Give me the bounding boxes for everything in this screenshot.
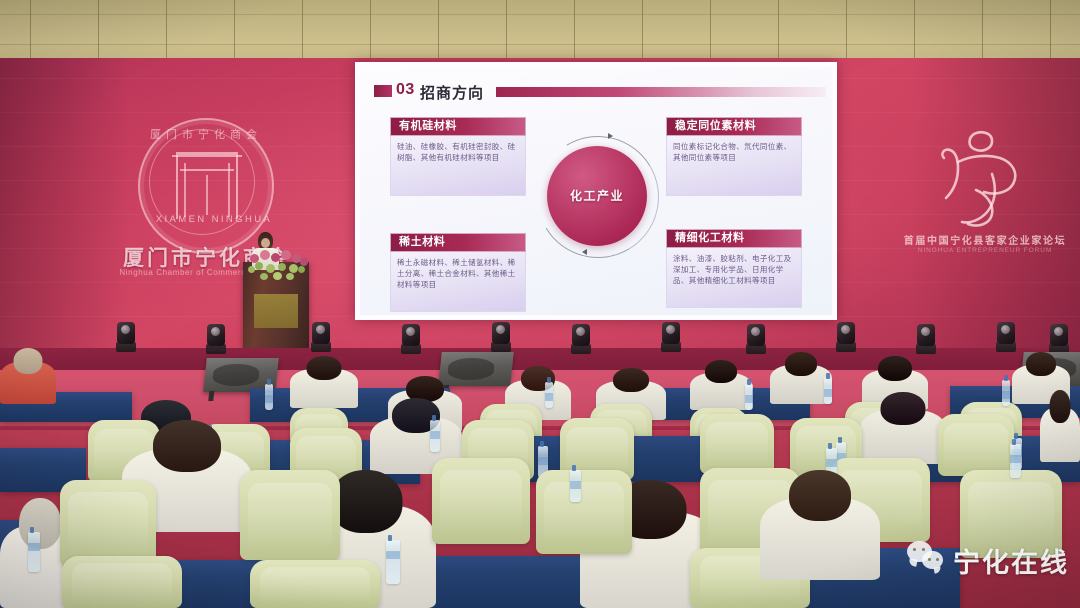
stage-light [490, 322, 512, 352]
slide-box-stable-isotope: 稳定同位素材料 同位素标记化合物、氘代同位素、其他同位素等项目 [666, 117, 802, 196]
ceiling-seam [166, 0, 167, 60]
audience-chair [240, 470, 340, 560]
flower [281, 250, 291, 260]
light-lens [496, 325, 505, 334]
box-heading: 有机硅材料 [390, 117, 526, 136]
audience-chair [536, 470, 632, 554]
person-head [1050, 390, 1071, 423]
light-lens [921, 327, 930, 336]
water-bottle [28, 532, 40, 572]
bottle-label [826, 459, 837, 467]
water-bottle [570, 470, 581, 502]
light-lens [316, 325, 325, 334]
center-disc: 化工产业 [547, 146, 647, 246]
audience-chair [432, 458, 530, 544]
ceiling-seam [914, 0, 915, 60]
audience-member [760, 470, 880, 580]
ning-character-icon [900, 128, 1070, 236]
ceiling-line [0, 14, 1080, 15]
bottle-label [570, 481, 581, 489]
ceiling-seam [438, 0, 439, 60]
ceiling-seam [982, 0, 983, 60]
ceiling-seam [574, 0, 575, 60]
light-lens [1054, 327, 1063, 336]
flower [273, 272, 282, 280]
person-head [705, 360, 737, 383]
ceiling-seam [846, 0, 847, 60]
slide-box-organosilicon: 有机硅材料 硅油、硅橡胶、有机硅密封胶、硅树脂、其他有机硅材料等项目 [390, 117, 526, 196]
slide-section-title: 招商方向 [420, 82, 484, 103]
person-head [785, 352, 817, 376]
person-head [613, 368, 649, 392]
flower [298, 266, 305, 273]
audience-chair [62, 556, 182, 608]
backdrop-shadow-left [0, 58, 130, 350]
light-lens [1001, 325, 1010, 334]
bottle-label [430, 431, 440, 439]
audience-chair [60, 480, 156, 566]
audience-member [860, 392, 946, 464]
audience-member [690, 360, 752, 410]
box-body: 稀土永磁材料、稀土储氢材料、稀土分离、稀土合金材料、其他稀土材料等项目 [390, 252, 526, 312]
seal-gate-emblem-icon [176, 152, 238, 219]
ceiling-seam [234, 0, 235, 60]
box-body: 涂料、油漆、胶粘剂、电子化工及深加工、专用化学品、日用化学品、其他精细化工材料等… [666, 248, 802, 308]
light-lens [751, 327, 760, 336]
ceiling-seam [710, 0, 711, 60]
person-head [330, 470, 403, 533]
stage-light [115, 322, 137, 352]
audience-chair [700, 414, 774, 474]
bottle-label [1010, 455, 1021, 463]
seal-ring: 厦门市宁化商会 XIAMEN NINGHUA [138, 118, 274, 254]
arrow-head-bottom-icon [582, 249, 587, 255]
speaker-grille [212, 364, 260, 386]
audience-member [290, 356, 358, 408]
flower [266, 264, 275, 273]
water-bottle [1002, 380, 1010, 406]
ceiling-wall-panel [0, 0, 1080, 60]
flower [260, 273, 268, 280]
stage-light [995, 322, 1017, 352]
audience-member [0, 348, 56, 404]
water-bottle [265, 384, 273, 410]
seal-arc-text: 厦门市宁化商会 [150, 127, 262, 187]
light-lens [121, 325, 130, 334]
audience-member [770, 352, 832, 404]
stage-light [1048, 324, 1070, 354]
ceiling-seam [642, 0, 643, 60]
water-bottle [745, 384, 753, 410]
box-heading: 稳定同位素材料 [666, 117, 802, 136]
bottle-label [545, 393, 553, 401]
ceiling-line [0, 44, 1080, 45]
screenshot-root: 厦门市宁化商会 XIAMEN NINGHUA 厦门市宁化商会 Ninghua C… [0, 0, 1080, 608]
forum-calligraphy-logo: 首届中国宁化县客家企业家论坛 NINGHUA ENTREPRENEUR FORU… [900, 128, 1070, 263]
ceiling-seam [1050, 0, 1051, 60]
stage-light [570, 324, 592, 354]
box-heading: 稀土材料 [390, 233, 526, 252]
light-lens [841, 325, 850, 334]
arrow-head-top-icon [608, 133, 613, 139]
person-head [19, 498, 61, 549]
water-bottle [545, 382, 553, 408]
stage-light [745, 324, 767, 354]
ceiling-seam [370, 0, 371, 60]
wechat-icon-secondary [922, 551, 943, 569]
ceiling-seam [506, 0, 507, 60]
title-tab-marker [374, 85, 392, 97]
light-lens [211, 327, 220, 336]
stage-light [205, 324, 227, 354]
slide-section-number: 03 [396, 81, 415, 99]
flower [255, 262, 263, 270]
stage-light [310, 322, 332, 352]
person-head [1026, 352, 1056, 376]
flower [286, 273, 294, 280]
flower [260, 250, 270, 260]
stage-light [915, 324, 937, 354]
title-gradient-bar [496, 87, 826, 97]
bottle-label [1002, 391, 1010, 399]
flower [248, 266, 255, 273]
light-lens [666, 325, 675, 334]
light-lens [406, 327, 415, 336]
stage-light [400, 324, 422, 354]
audience-member [1040, 390, 1080, 462]
seal-english-text: XIAMEN NINGHUA [146, 214, 282, 225]
podium-flower-arrangement [248, 248, 310, 284]
forum-caption-cn: 首届中国宁化县客家企业家论坛 [890, 232, 1080, 247]
bottle-label [265, 395, 273, 403]
person-head [307, 356, 342, 380]
bottle-label [824, 389, 832, 397]
light-lens [576, 327, 585, 336]
audience-chair [938, 414, 1014, 476]
bottle-label [538, 457, 548, 465]
person-head [153, 420, 221, 472]
chamber-seal-logo: 厦门市宁化商会 XIAMEN NINGHUA 厦门市宁化商会 Ninghua C… [130, 118, 300, 268]
water-bottle [824, 378, 832, 404]
stage-light [660, 322, 682, 352]
bottle-label [745, 395, 753, 403]
audience-chair [250, 560, 380, 608]
center-circle-diagram: 化工产业 [536, 135, 666, 265]
box-body: 硅油、硅橡胶、有机硅密封胶、硅树脂、其他有机硅材料等项目 [390, 136, 526, 196]
watermark: 宁化在线 [905, 539, 1075, 583]
person-head [881, 392, 926, 425]
person-head [789, 470, 851, 521]
bottle-label [28, 543, 40, 551]
water-bottle [1010, 444, 1021, 478]
slide-title-bar: 03 招商方向 [374, 81, 820, 103]
podium-front-plate [254, 294, 298, 328]
flower [271, 253, 280, 262]
projection-screen: 03 招商方向 化工产业 有机硅材料 硅油、硅橡胶、有机硅密封胶、硅树脂、其他有… [355, 62, 837, 320]
ceiling-seam [778, 0, 779, 60]
ceiling-seam [302, 0, 303, 60]
box-body: 同位素标记化合物、氘代同位素、其他同位素等项目 [666, 136, 802, 196]
watermark-label: 宁化在线 [953, 541, 1069, 580]
flower [278, 263, 286, 271]
speaker-face [261, 238, 270, 248]
box-heading: 精细化工材料 [666, 229, 802, 248]
person-head [878, 356, 912, 381]
slide-box-fine-chemical: 精细化工材料 涂料、油漆、胶粘剂、电子化工及深加工、专用化学品、日用化学品、其他… [666, 229, 802, 308]
slide-content: 03 招商方向 化工产业 有机硅材料 硅油、硅橡胶、有机硅密封胶、硅树脂、其他有… [360, 67, 832, 315]
slide-box-rare-earth: 稀土材料 稀土永磁材料、稀土储氢材料、稀土分离、稀土合金材料、其他稀土材料等项目 [390, 233, 526, 312]
ceiling-seam [98, 0, 99, 60]
water-bottle [386, 540, 400, 584]
ceiling-seam [30, 0, 31, 60]
center-disc-label: 化工产业 [547, 187, 647, 204]
forum-caption-en: NINGHUA ENTREPRENEUR FORUM [890, 247, 1080, 254]
flower [300, 258, 308, 266]
person-head [14, 348, 43, 374]
bottle-label [386, 551, 400, 559]
flower [289, 264, 298, 273]
stage-light [835, 322, 857, 352]
water-bottle [430, 420, 440, 452]
